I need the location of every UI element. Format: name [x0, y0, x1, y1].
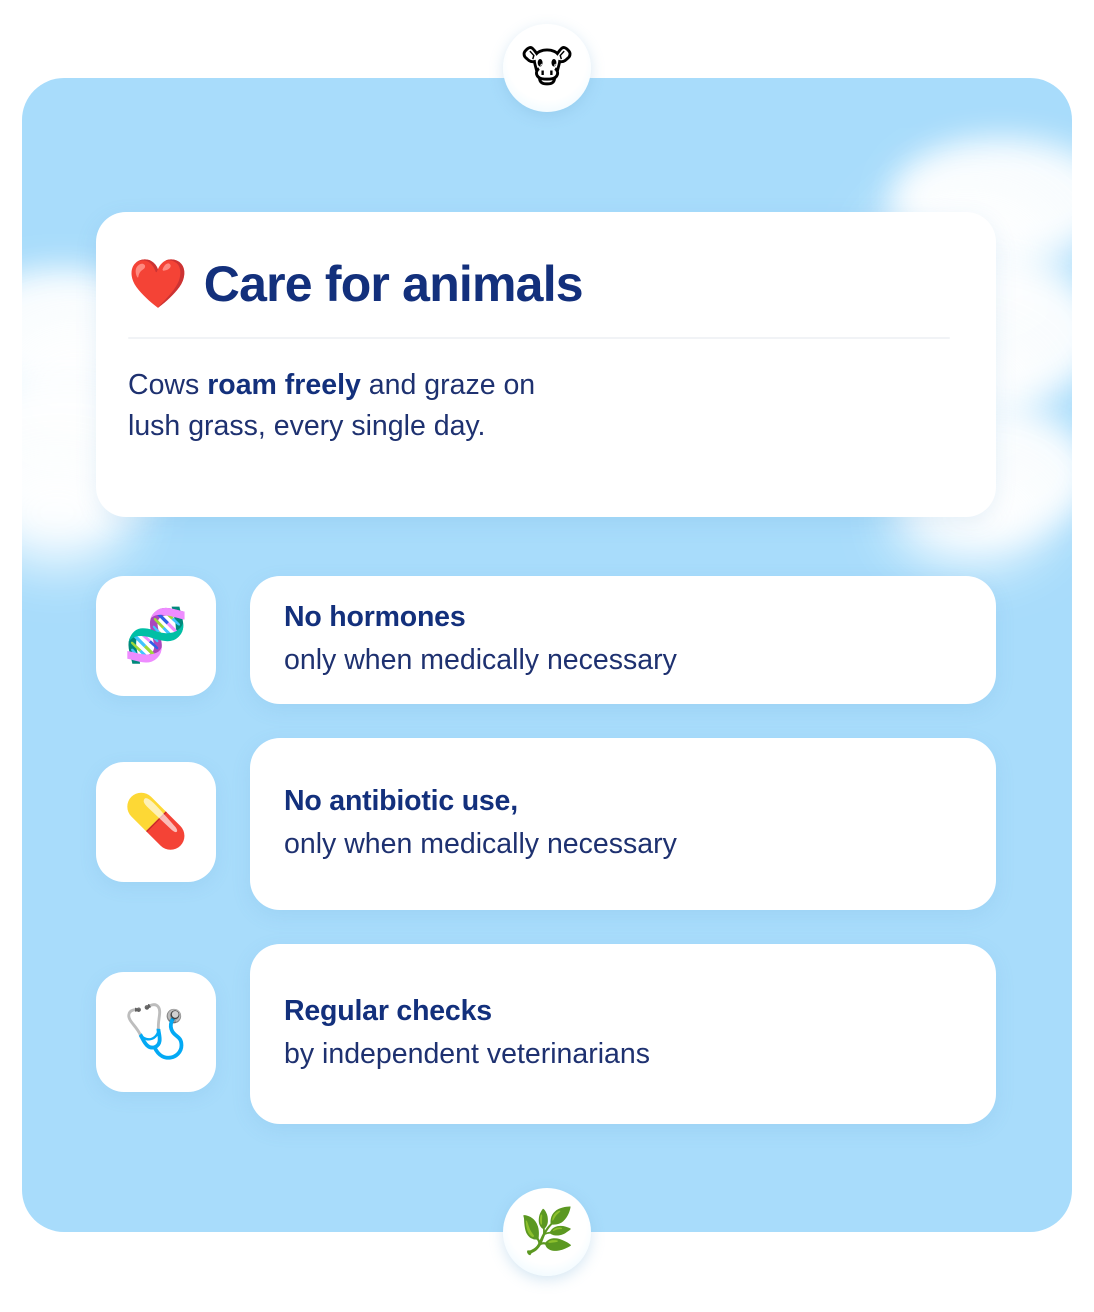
- feature-icon-tile: 💊: [96, 762, 216, 882]
- hero-body-part1: Cows: [128, 369, 207, 401]
- feature-icon-tile: 🩺: [96, 972, 216, 1092]
- feature-row: 🩺 Regular checks by independent veterina…: [96, 944, 996, 1124]
- divider: [128, 337, 950, 339]
- feature-card: No antibiotic use, only when medically n…: [250, 738, 996, 910]
- hero-body-strong: roam freely: [207, 369, 361, 401]
- hero-body-part2: and graze on: [361, 369, 535, 401]
- feature-title: No hormones: [284, 598, 962, 636]
- hero-card: ❤️ Care for animals Cows roam freely and…: [96, 212, 996, 517]
- red-heart-icon: ❤️: [128, 260, 188, 308]
- feature-card: No hormones only when medically necessar…: [250, 576, 996, 704]
- cow-face-badge: 🐮: [503, 24, 591, 112]
- herb-leaf-icon: 🌿: [520, 1210, 575, 1254]
- feature-title: Regular checks: [284, 992, 962, 1030]
- cow-face-icon: 🐮: [521, 46, 573, 90]
- herb-leaf-badge: 🌿: [503, 1188, 591, 1276]
- hero-body-text: Cows roam freely and graze on lush grass…: [128, 365, 956, 449]
- page-title: Care for animals: [204, 258, 583, 311]
- feature-card: Regular checks by independent veterinari…: [250, 944, 996, 1124]
- feature-title: No antibiotic use,: [284, 782, 962, 820]
- feature-subtitle: only when medically necessary: [284, 825, 962, 863]
- feature-icon-tile: 🧬: [96, 576, 216, 696]
- dna-icon: 🧬: [124, 610, 189, 662]
- feature-subtitle: by independent veterinarians: [284, 1035, 962, 1073]
- feature-row: 💊 No antibiotic use, only when medically…: [96, 738, 996, 910]
- hero-body-line2: lush grass, every single day.: [128, 410, 485, 442]
- stethoscope-icon: 🩺: [124, 1006, 189, 1058]
- feature-row: 🧬 No hormones only when medically necess…: [96, 576, 996, 704]
- hero-title-row: ❤️ Care for animals: [128, 258, 956, 311]
- feature-subtitle: only when medically necessary: [284, 641, 962, 679]
- pill-icon: 💊: [124, 796, 189, 848]
- page-stage: 🐮 ❤️ Care for animals Cows roam freely a…: [0, 0, 1094, 1312]
